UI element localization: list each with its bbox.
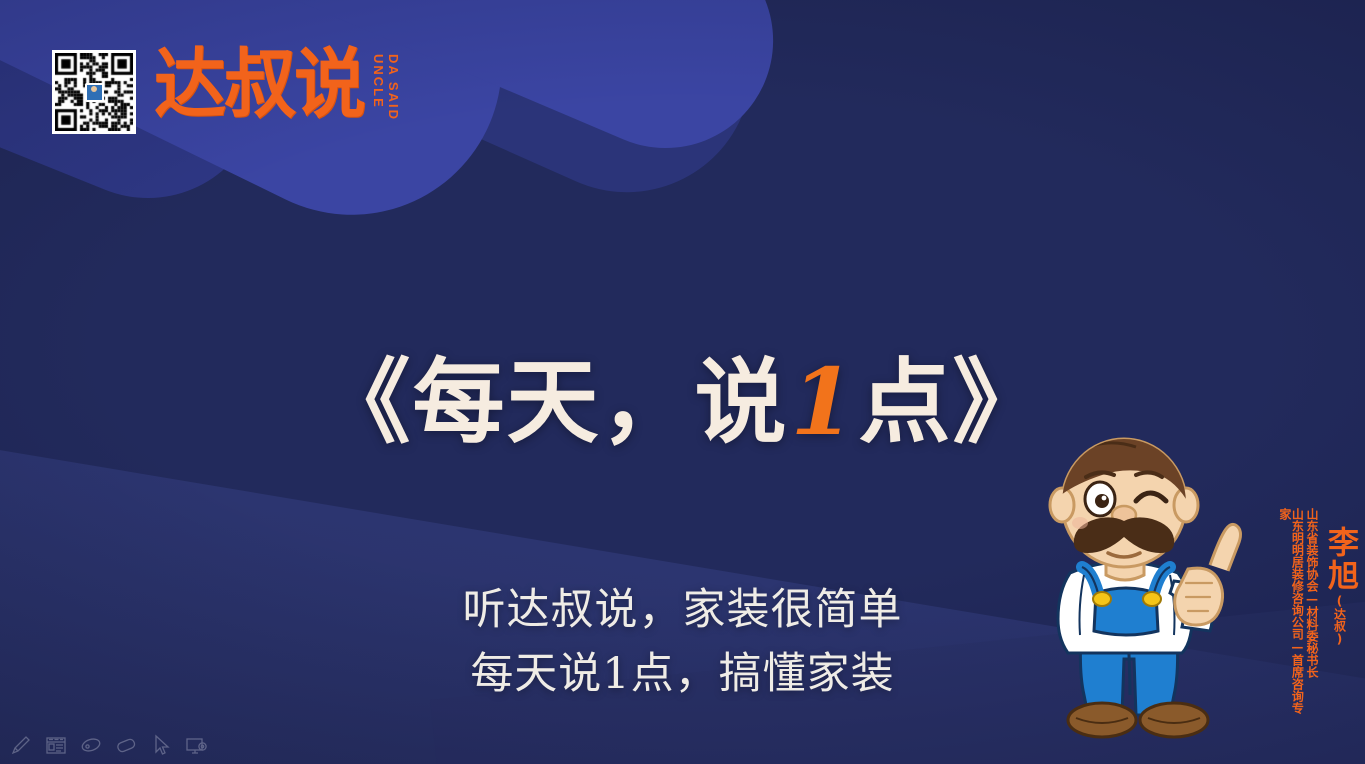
title-part-3: 点	[859, 349, 953, 456]
qr-avatar	[85, 83, 104, 102]
lasso-icon[interactable]	[78, 732, 104, 758]
brand-name-cn: 达叔说	[154, 50, 364, 119]
brand-logo: 达叔说 DA SAID UNCLE	[52, 50, 400, 142]
brand-name-en-line1: UNCLE	[370, 54, 385, 140]
presenter-name-group: 李旭 (达叔)	[1324, 526, 1355, 646]
brand-name-en-line2: DA SAID	[385, 54, 400, 140]
eraser-icon[interactable]	[113, 732, 139, 758]
presenter-credential-lines: 山东明明居装修咨询公司—首席咨询专家 山东省装饰协会—材料委秘书长	[1278, 508, 1320, 723]
uncle-da-mascot	[1024, 425, 1274, 745]
presentation-toolbar[interactable]	[8, 732, 209, 758]
brand-wordmark: 达叔说 DA SAID UNCLE	[154, 50, 400, 140]
presenter-credits: 山东明明居装修咨询公司—首席咨询专家 山东省装饰协会—材料委秘书长 李旭 (达叔…	[1278, 508, 1355, 738]
pen-icon[interactable]	[8, 732, 34, 758]
presenter-credential-1: 山东省装饰协会—材料委秘书长	[1305, 508, 1318, 723]
title-part-2: 说	[694, 349, 788, 456]
presenter-alias: (达叔)	[1334, 594, 1346, 646]
title-open-bracket: 《	[318, 349, 412, 456]
presentation-slide: 达叔说 DA SAID UNCLE 《每天，说1点》 听达叔说，家装很简单 每天…	[0, 0, 1365, 764]
ink-panel-icon[interactable]	[43, 732, 69, 758]
title-part-1: 每天，	[412, 349, 694, 456]
pointer-icon[interactable]	[148, 732, 174, 758]
presenter-name: 李旭	[1324, 526, 1355, 592]
wechat-qr-code-icon	[52, 50, 136, 134]
title-accent-number: 1	[789, 348, 859, 456]
brand-name-en: DA SAID UNCLE	[370, 54, 400, 140]
screen-options-icon[interactable]	[183, 732, 209, 758]
presenter-credential-2: 山东明明居装修咨询公司—首席咨询专家	[1278, 508, 1303, 723]
